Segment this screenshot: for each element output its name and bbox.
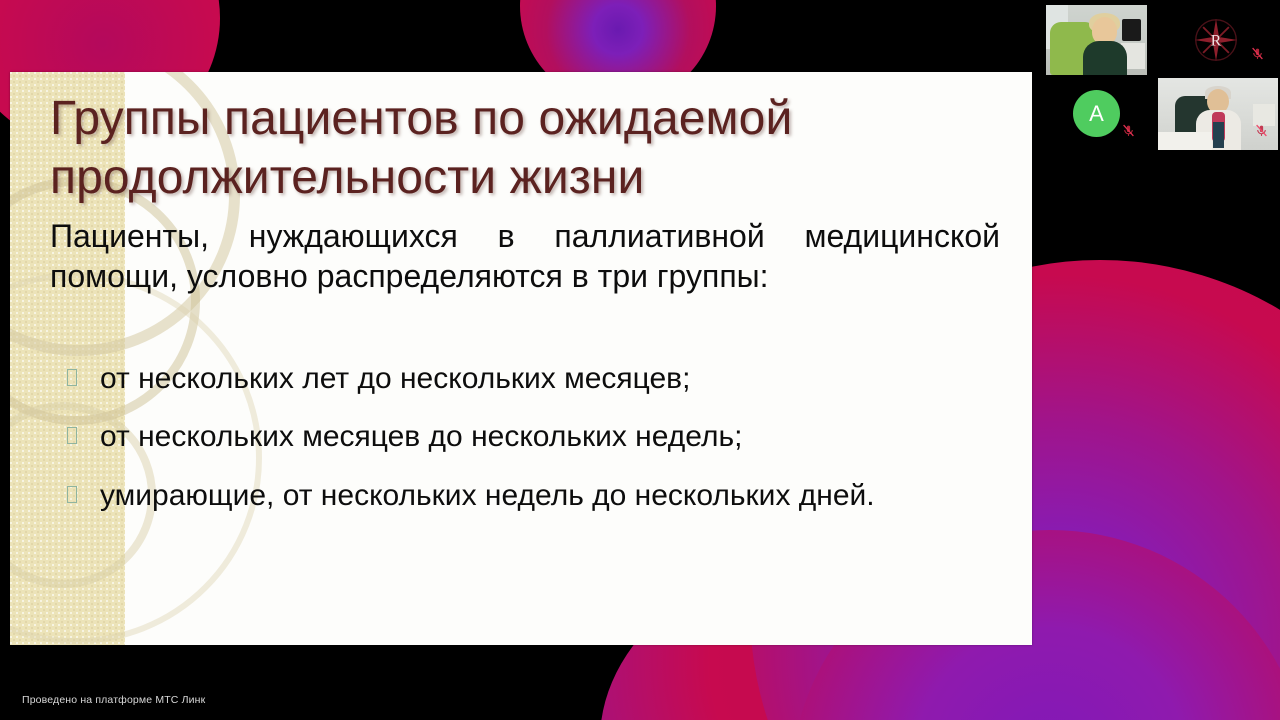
inner-top-shape [1213,122,1224,148]
bullet-square-icon [67,486,77,503]
torso-shape [1083,41,1127,75]
participant-tile-video-1[interactable] [1046,5,1147,75]
mic-muted-icon [1251,46,1264,61]
participant-tile-logo[interactable]: R [1154,5,1278,75]
mic-muted-icon [1122,123,1135,138]
slide-title: Группы пациентов по ожидаемой продолжите… [50,90,955,207]
svg-text:R: R [1211,33,1222,50]
list-item: от нескольких лет до нескольких месяцев; [58,360,1004,398]
mic-muted-glyph [1122,123,1135,138]
avatar: A [1073,90,1120,137]
bullet-square-icon [67,369,77,386]
mic-muted-glyph [1255,123,1268,138]
brand-logo-icon: R [1193,17,1239,63]
participant-tiles: R A [1044,2,1278,150]
slide-content: Группы пациентов по ожидаемой продолжите… [10,72,1032,645]
meeting-screen: Группы пациентов по ожидаемой продолжите… [0,0,1280,720]
list-item-label: умирающие, от нескольких недель до неско… [100,479,875,512]
slide-paragraph: Пациенты, нуждающихся в паллиативной мед… [50,216,1000,296]
mic-muted-glyph [1251,46,1264,61]
platform-note: Проведено на платформе МТС Линк [22,694,205,706]
bullet-square-icon [67,427,77,444]
participant-tile-avatar[interactable]: A [1046,78,1147,150]
list-item-label: от нескольких лет до нескольких месяцев; [100,362,690,395]
slide-bullet-list: от нескольких лет до нескольких месяцев;… [58,360,1004,515]
bag-shape [1122,19,1141,41]
list-item: от нескольких месяцев до нескольких неде… [58,418,1004,456]
list-item-label: от нескольких месяцев до нескольких неде… [100,420,742,453]
mic-muted-icon [1255,123,1268,138]
participant-tile-video-2[interactable] [1158,78,1278,150]
list-item: умирающие, от нескольких недель до неско… [58,477,1004,515]
desk-shape [1158,132,1212,150]
presentation-slide[interactable]: Группы пациентов по ожидаемой продолжите… [10,72,1032,645]
